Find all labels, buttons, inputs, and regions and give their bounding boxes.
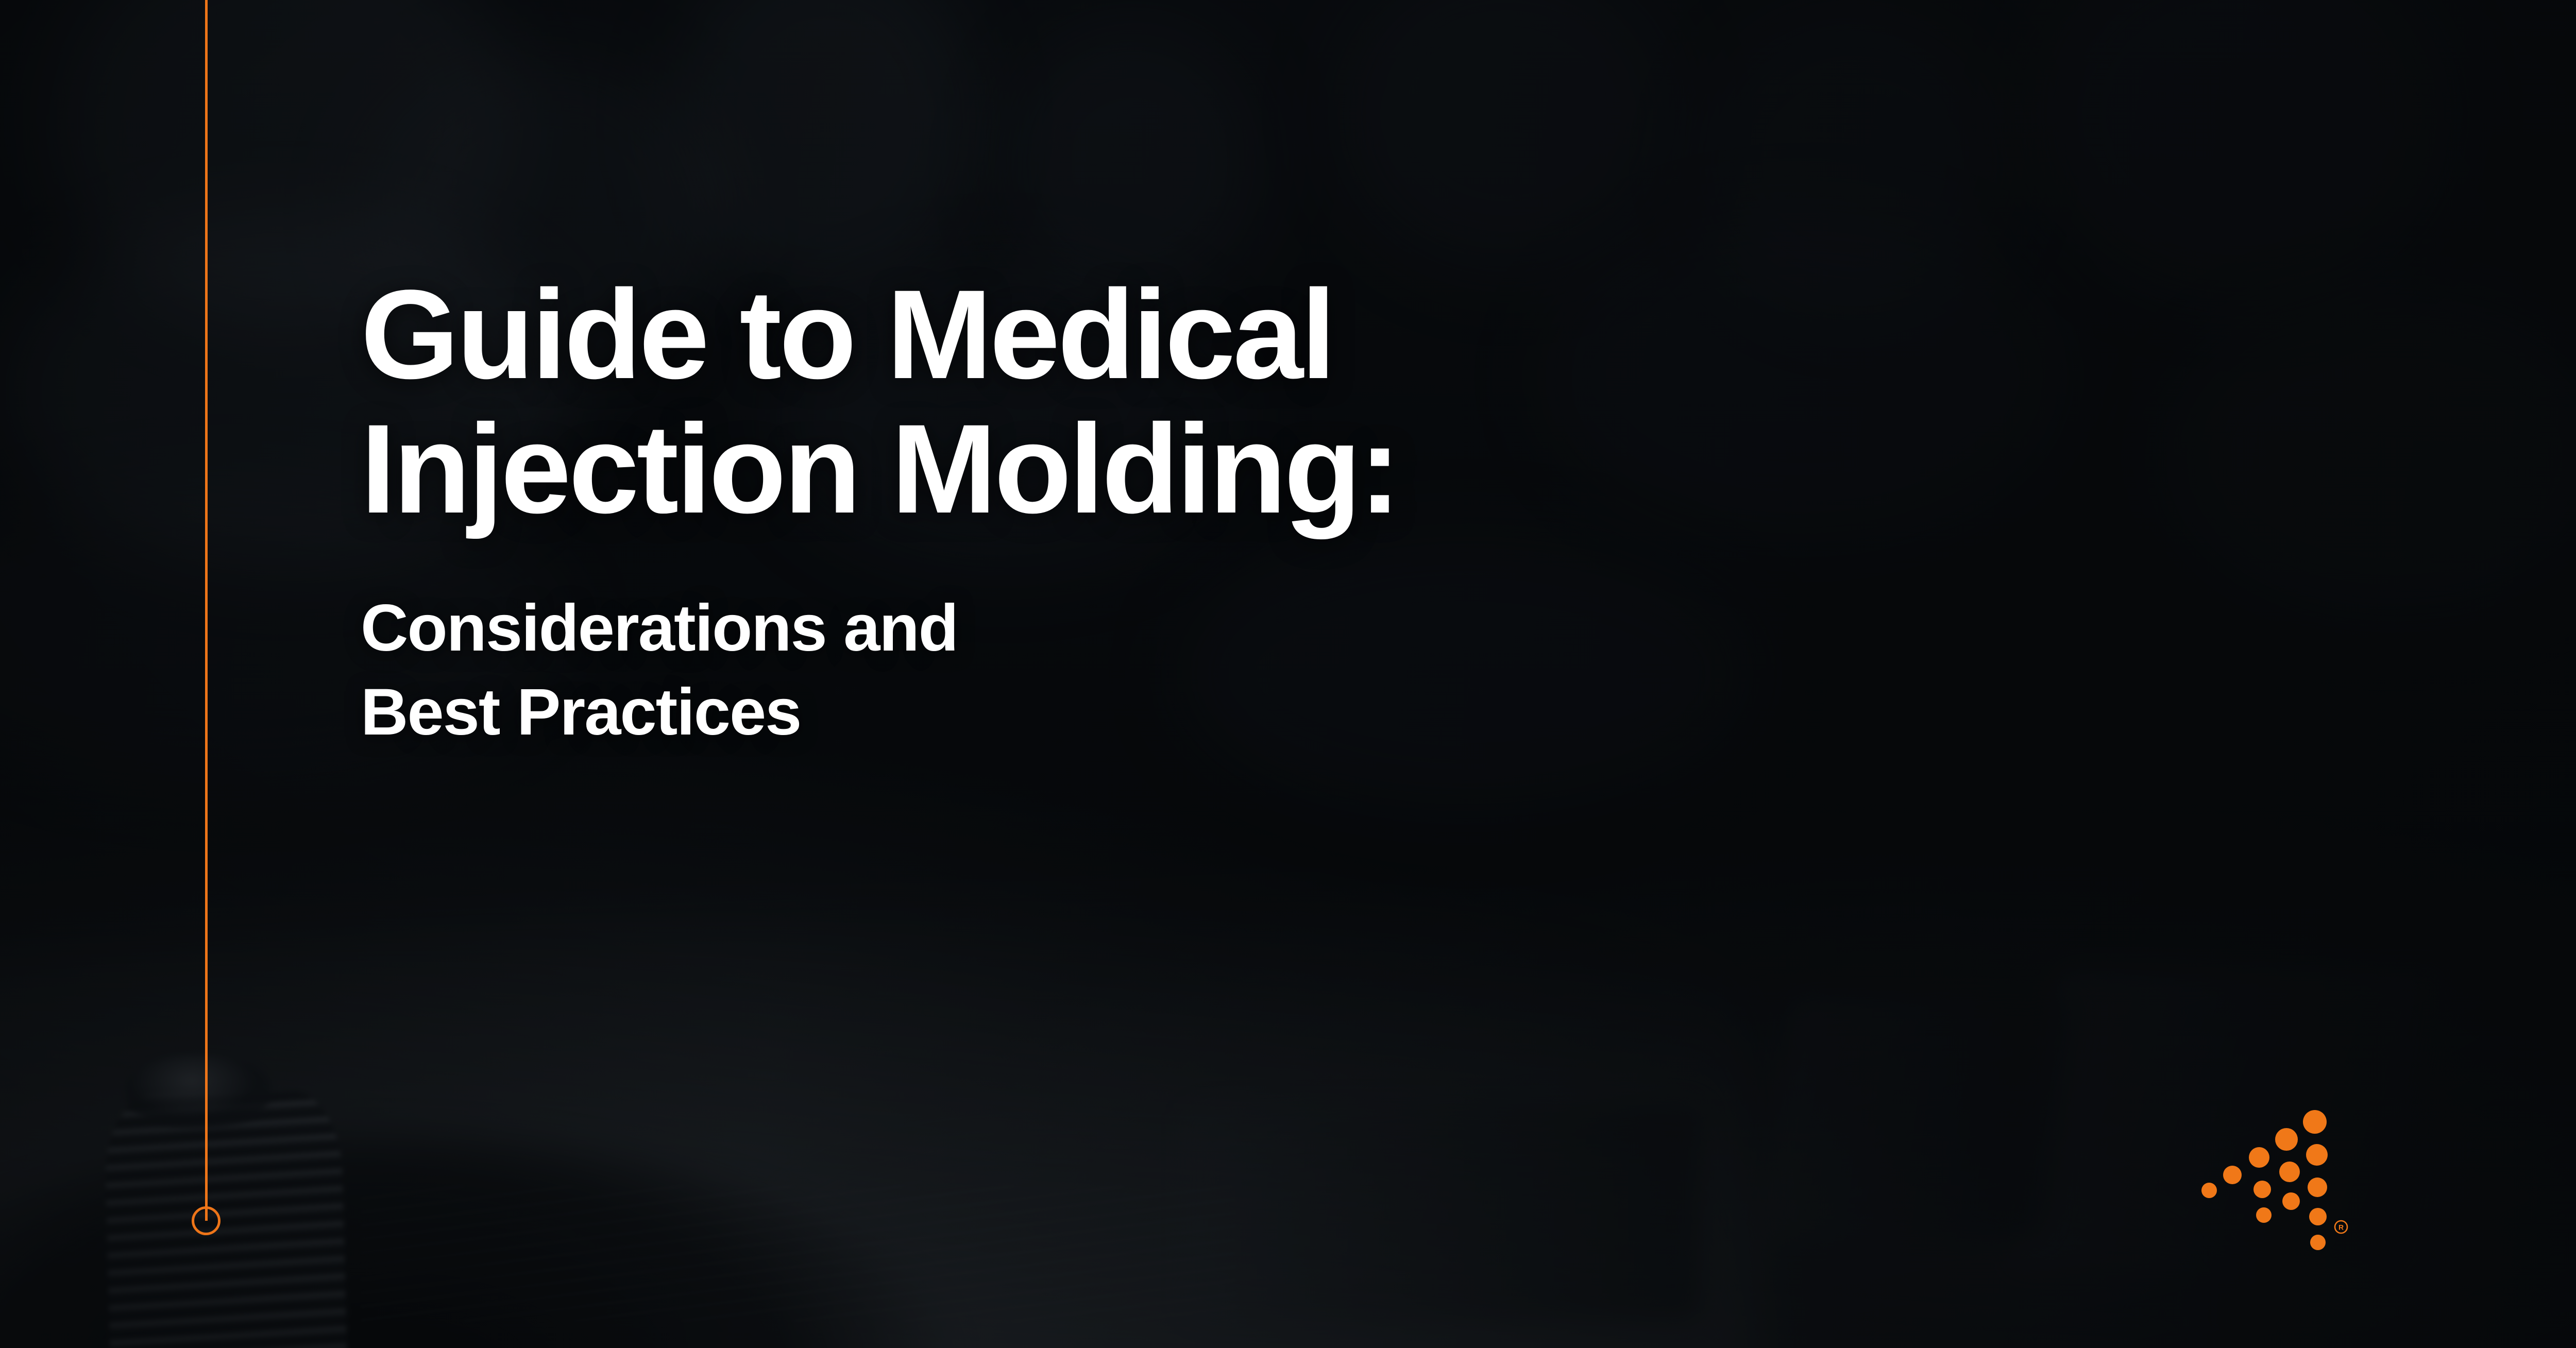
- page-title-line-2: Injection Molding:: [361, 402, 2298, 537]
- logo-dot-11: [2256, 1207, 2272, 1223]
- vertical-accent-rule: [205, 0, 208, 1221]
- page-title-line-1: Guide to Medical: [361, 268, 2298, 402]
- title-copy-block: Guide to Medical Injection Molding: Cons…: [361, 268, 2298, 755]
- logo-dot-2: [2306, 1144, 2328, 1166]
- logo-dot-6: [2308, 1178, 2327, 1197]
- logo-dot-1: [2275, 1128, 2298, 1151]
- logo-dot-7: [2253, 1181, 2271, 1198]
- logo-dot-4: [2279, 1162, 2300, 1182]
- logo-dot-8: [2201, 1183, 2217, 1198]
- page-title: Guide to Medical Injection Molding:: [361, 268, 2298, 537]
- logo-dot-5: [2223, 1166, 2242, 1184]
- page-subtitle-line-1: Considerations and: [361, 586, 2298, 671]
- trademark-letter: R: [2338, 1223, 2344, 1232]
- logo-dot-10: [2309, 1208, 2327, 1225]
- title-card-canvas: Guide to Medical Injection Molding: Cons…: [0, 0, 2576, 1348]
- logo-dot-3: [2249, 1147, 2269, 1168]
- dotted-chevron-logo-icon: R: [2208, 1107, 2363, 1262]
- page-subtitle-line-2: Best Practices: [361, 670, 2298, 755]
- page-subtitle: Considerations and Best Practices: [361, 586, 2298, 755]
- accent-endpoint-circle: [192, 1206, 221, 1235]
- logo-dot-9: [2282, 1192, 2300, 1210]
- logo-dot-12: [2310, 1235, 2326, 1250]
- logo-dot-0: [2303, 1110, 2327, 1134]
- brand-logo[interactable]: R: [2208, 1107, 2363, 1262]
